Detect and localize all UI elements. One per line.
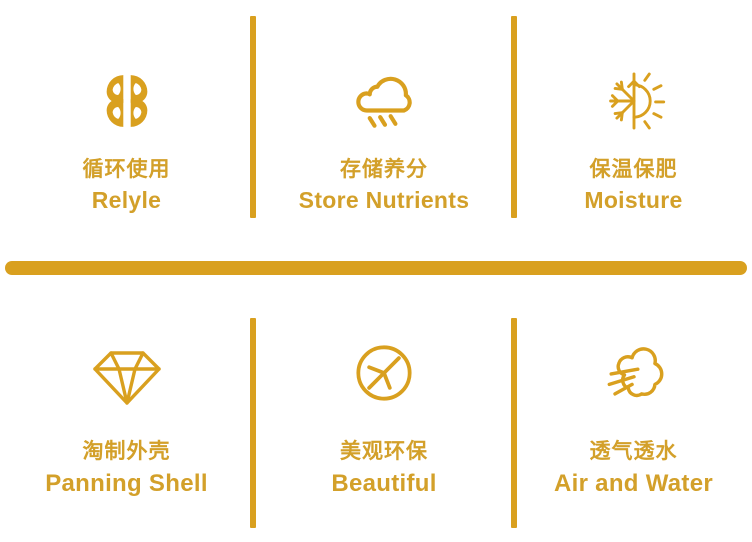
feature-label-en: Moisture xyxy=(584,186,682,216)
four-petal-clover-icon xyxy=(86,60,168,142)
vertical-divider-top-1 xyxy=(250,16,256,218)
wind-cloud-icon xyxy=(591,330,677,416)
feature-cell-panning-shell[interactable]: 淘制外壳 Panning Shell xyxy=(0,292,253,542)
feature-label-en: Beautiful xyxy=(331,468,436,499)
feature-grid: 循环使用 Relyle 存储养分 Store Nutrients xyxy=(0,0,752,542)
feature-label-cn: 透气透水 xyxy=(590,438,678,466)
rain-cloud-icon xyxy=(343,60,425,142)
feature-label-cn: 存储养分 xyxy=(340,156,428,184)
vertical-divider-bottom-2 xyxy=(511,318,517,528)
feature-label-en: Panning Shell xyxy=(45,468,208,499)
feature-label-cn: 美观环保 xyxy=(340,438,428,466)
feature-label-en: Air and Water xyxy=(554,468,713,499)
sun-snowflake-icon xyxy=(593,60,675,142)
feature-label-en: Store Nutrients xyxy=(299,186,470,216)
feature-label-cn: 保温保肥 xyxy=(590,156,678,184)
vertical-divider-top-2 xyxy=(511,16,517,218)
feature-label-cn: 循环使用 xyxy=(83,156,171,184)
feature-label-en: Relyle xyxy=(92,186,162,216)
feature-row-top: 循环使用 Relyle 存储养分 Store Nutrients xyxy=(0,0,752,250)
feature-cell-beautiful[interactable]: 美观环保 Beautiful xyxy=(253,292,515,542)
vertical-divider-bottom-1 xyxy=(250,318,256,528)
feature-cell-air-and-water[interactable]: 透气透水 Air and Water xyxy=(515,292,752,542)
feature-label-cn: 淘制外壳 xyxy=(83,438,171,466)
diamond-gem-icon xyxy=(84,330,170,416)
feature-cell-moisture[interactable]: 保温保肥 Moisture xyxy=(515,0,752,250)
feature-cell-store-nutrients[interactable]: 存储养分 Store Nutrients xyxy=(253,0,515,250)
feature-cell-relyle[interactable]: 循环使用 Relyle xyxy=(0,0,253,250)
horizontal-divider-bar xyxy=(5,261,747,275)
feature-row-bottom: 淘制外壳 Panning Shell 美观环保 Beautiful xyxy=(0,292,752,542)
leaf-icon xyxy=(341,330,427,416)
